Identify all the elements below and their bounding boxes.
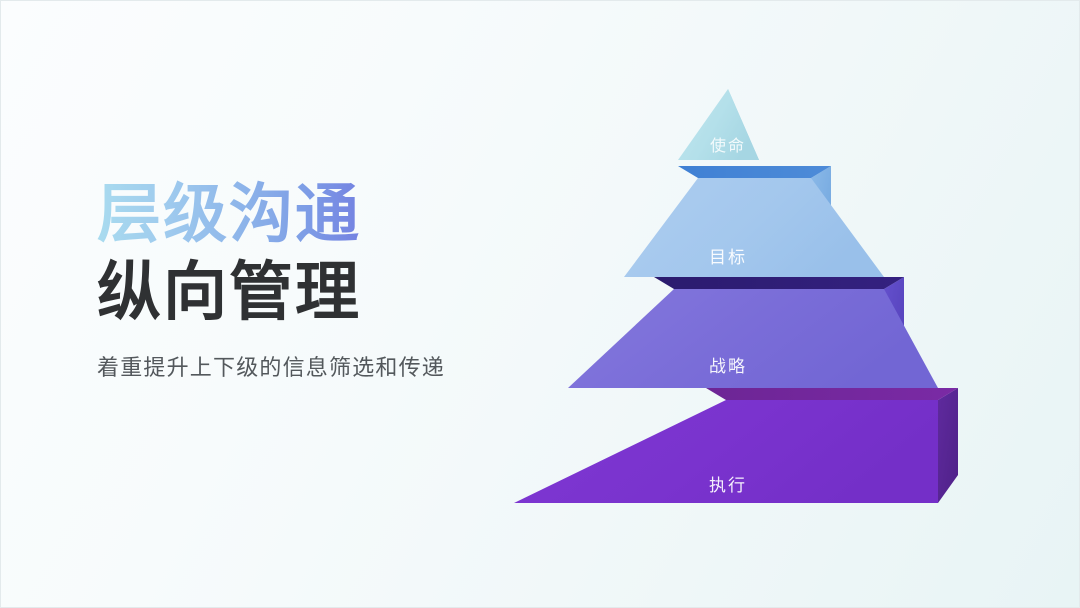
pyramid-tier-execution-top bbox=[706, 388, 958, 400]
pyramid-tier-execution-front bbox=[514, 400, 938, 503]
slide-canvas: 层级沟通 纵向管理 着重提升上下级的信息筛选和传递 bbox=[0, 0, 1080, 608]
pyramid-tier-mission[interactable]: 使命 bbox=[678, 89, 759, 160]
page-title-line-2: 纵向管理 bbox=[97, 257, 527, 329]
page-subtitle: 着重提升上下级的信息筛选和传递 bbox=[97, 350, 527, 382]
pyramid-tier-execution-side bbox=[938, 388, 958, 503]
pyramid-tier-strategy-top bbox=[654, 277, 904, 289]
pyramid-tier-strategy[interactable]: 战略 bbox=[568, 277, 938, 388]
pyramid-tier-mission-front bbox=[678, 89, 759, 160]
headline-block: 层级沟通 纵向管理 着重提升上下级的信息筛选和传递 bbox=[97, 179, 527, 382]
page-title-line-1: 层级沟通 bbox=[97, 179, 527, 251]
pyramid-tier-strategy-front bbox=[568, 289, 938, 388]
pyramid-tier-goal[interactable]: 目标 bbox=[624, 166, 884, 277]
pyramid-tier-execution[interactable]: 执行 bbox=[514, 388, 958, 503]
pyramid-tier-goal-top bbox=[678, 166, 831, 178]
pyramid-svg: 执行 战略 目标 bbox=[481, 61, 1001, 541]
pyramid-diagram: 执行 战略 目标 bbox=[481, 61, 1001, 541]
pyramid-tier-goal-front bbox=[624, 178, 884, 277]
